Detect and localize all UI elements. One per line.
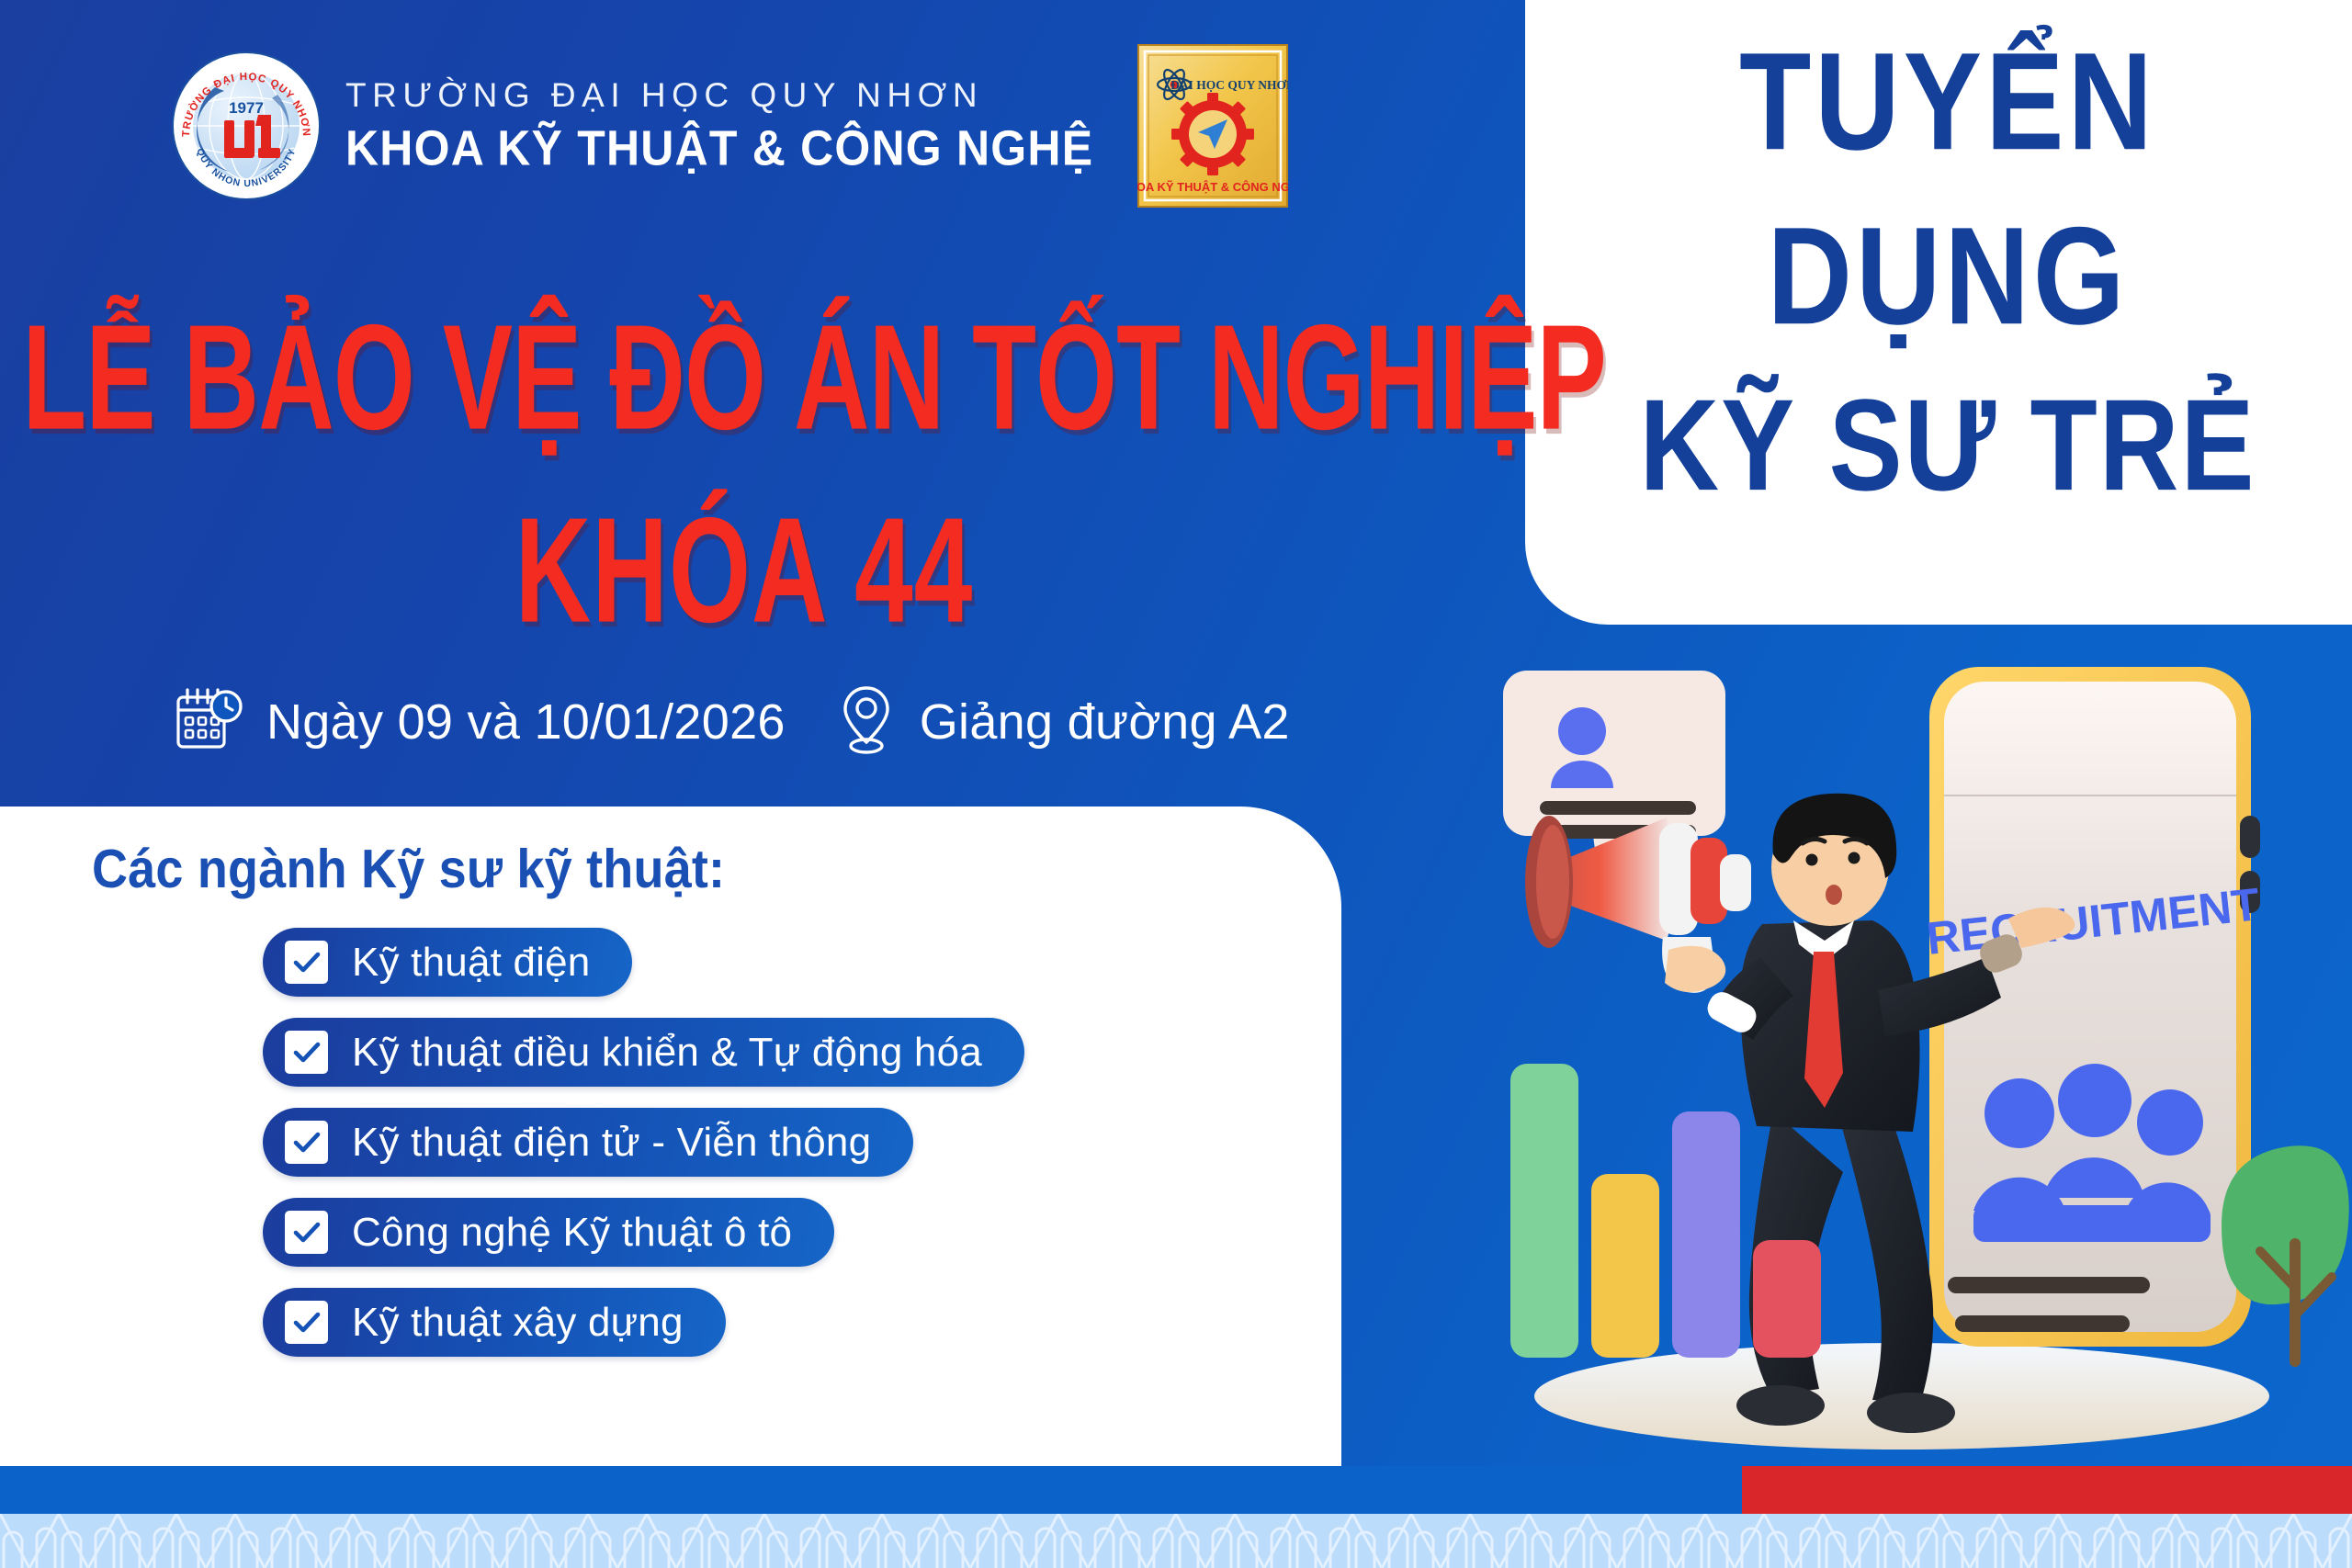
university-name: TRƯỜNG ĐẠI HỌC QUY NHƠN: [345, 76, 1093, 116]
bar-4: [1753, 1240, 1821, 1358]
location-pin-icon: [833, 682, 899, 761]
list-item[interactable]: Kỹ thuật điều khiển & Tự động hóa: [263, 1018, 1024, 1087]
quy-nhon-university-seal-icon: 1977 TRƯỜNG ĐẠI HỌC QUY NHƠN QUY NHON UN…: [171, 51, 322, 201]
list-item-label: Kỹ thuật xây dựng: [352, 1300, 684, 1346]
list-item-label: Công nghệ Kỹ thuật ô tô: [352, 1210, 792, 1256]
logo-year-text: 1977: [229, 99, 264, 117]
emblem-bottom-text: KHOA KỸ THUẬT & CÔNG NGHỆ: [1137, 180, 1288, 194]
emblem-top-text: ĐẠI HỌC QUY NHƠN: [1170, 78, 1288, 92]
recruitment-headline-line-2: DỤNG: [1525, 208, 2352, 346]
event-date-text: Ngày 09 và 10/01/2026: [266, 694, 786, 750]
calendar-clock-icon: [173, 682, 246, 761]
faculty-of-engineering-and-technology-emblem-icon: ĐẠI HỌC QUY NHƠN: [1137, 44, 1288, 208]
tree-icon: [2222, 1145, 2349, 1361]
bar-1: [1510, 1064, 1578, 1358]
majors-list: Kỹ thuật điện Kỹ thuật điều khiển & Tự đ…: [263, 928, 1024, 1357]
list-item[interactable]: Kỹ thuật điện: [263, 928, 632, 997]
poster-header: 1977 TRƯỜNG ĐẠI HỌC QUY NHƠN QUY NHON UN…: [171, 44, 1288, 208]
recruitment-headline: TUYỂN DỤNG KỸ SƯ TRẺ: [1525, 33, 2352, 491]
list-item[interactable]: Kỹ thuật điện tử - Viễn thông: [263, 1108, 913, 1177]
list-item-label: Kỹ thuật điện: [352, 940, 590, 986]
recruitment-headline-line-1: TUYỂN: [1525, 33, 2352, 172]
bottom-band-blue: [0, 1466, 1764, 1517]
checkmark-icon: [285, 941, 328, 984]
bottom-band-red: [1742, 1466, 2352, 1517]
event-meta-row: Ngày 09 và 10/01/2026 Giảng đường A2: [173, 682, 1290, 761]
list-item[interactable]: Công nghệ Kỹ thuật ô tô: [263, 1198, 834, 1267]
event-location-text: Giảng đường A2: [920, 694, 1290, 750]
recruitment-3d-illustration: RECRUITMENT: [1470, 634, 2352, 1461]
checkmark-icon: [285, 1031, 328, 1074]
bottom-pattern-band: [0, 1514, 2352, 1568]
list-item-label: Kỹ thuật điện tử - Viễn thông: [352, 1120, 871, 1166]
bar-3: [1672, 1111, 1740, 1358]
recruitment-headline-line-3: KỸ SƯ TRẺ: [1525, 380, 2352, 511]
list-item[interactable]: Kỹ thuật xây dựng: [263, 1288, 726, 1357]
majors-heading: Các ngành Kỹ sư kỹ thuật:: [92, 838, 725, 900]
checkmark-icon: [285, 1211, 328, 1254]
checkmark-icon: [285, 1301, 328, 1344]
event-location-item: Giảng đường A2: [833, 682, 1290, 761]
main-title-line-1: LỄ BẢO VỆ ĐỒ ÁN TỐT NGHIỆP: [22, 303, 1465, 453]
faculty-name: KHOA KỸ THUẬT & CÔNG NGHỆ: [345, 118, 1093, 177]
bar-2: [1591, 1174, 1659, 1358]
list-item-label: Kỹ thuật điều khiển & Tự động hóa: [352, 1030, 982, 1076]
main-title-line-2: KHÓA 44: [22, 496, 1465, 646]
poster-root: 1977 TRƯỜNG ĐẠI HỌC QUY NHƠN QUY NHON UN…: [0, 0, 2352, 1568]
checkmark-icon: [285, 1121, 328, 1164]
header-text-block: TRƯỜNG ĐẠI HỌC QUY NHƠN KHOA KỸ THUẬT & …: [345, 76, 1093, 175]
event-date-item: Ngày 09 và 10/01/2026: [173, 682, 786, 761]
